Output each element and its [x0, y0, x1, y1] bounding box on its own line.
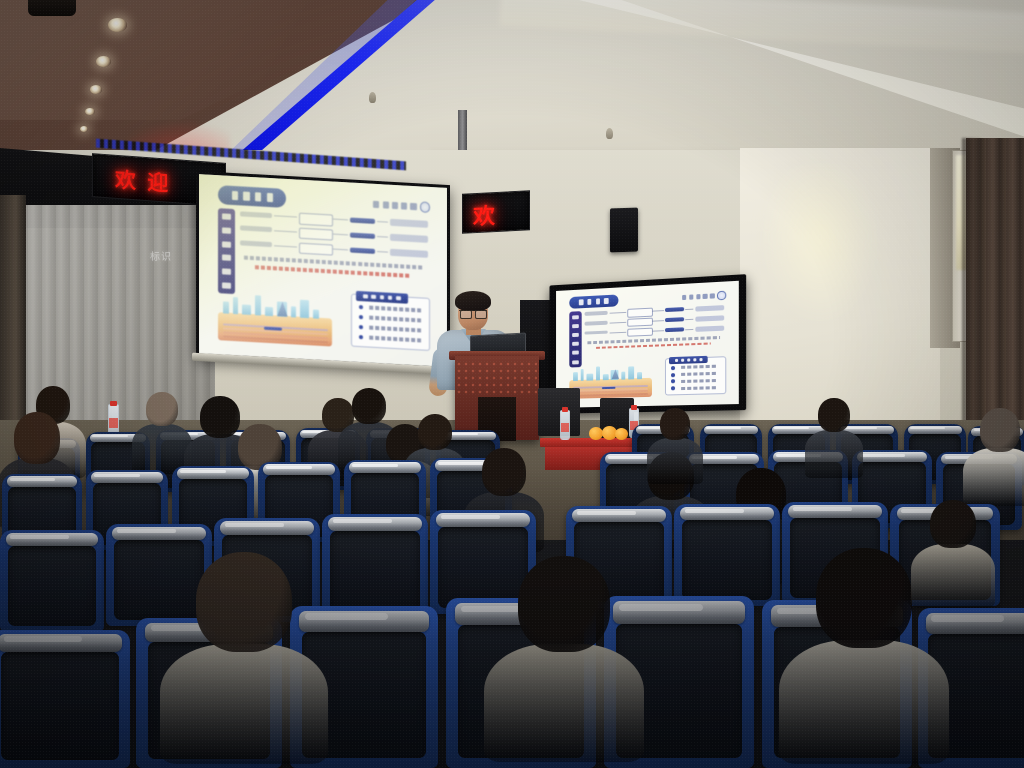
attendee-head	[930, 500, 976, 548]
attendee-shoulders	[963, 448, 1024, 506]
chair-bar-highlight	[910, 427, 945, 429]
attendee-head	[518, 556, 610, 652]
attendee-head	[146, 392, 178, 426]
attendee-shoulders	[160, 644, 328, 764]
attendee-head	[352, 388, 386, 424]
chair-bar-highlight	[441, 515, 500, 519]
attendee-17	[518, 556, 678, 762]
attendee-head	[14, 412, 60, 464]
chair-cushion	[1, 652, 119, 760]
chair-bar-highlight	[266, 466, 312, 469]
seated-audience	[0, 0, 1024, 768]
attendee-shoulders	[779, 640, 949, 764]
attendee-head	[818, 398, 850, 432]
chair-bar-highlight	[117, 529, 176, 533]
attendee-head	[816, 548, 912, 648]
chair-bar-highlight	[94, 474, 140, 477]
chair-bar-highlight	[225, 523, 284, 527]
attendee-16	[196, 552, 364, 764]
chair-cushion	[8, 546, 95, 626]
attendee-head	[660, 408, 690, 440]
audience-chair	[0, 530, 104, 632]
attendee-shoulders	[647, 438, 703, 484]
attendee-head	[980, 408, 1020, 452]
chair-cushion	[438, 527, 527, 608]
audience-chair	[0, 630, 130, 768]
chair-bar-highlight	[333, 519, 392, 523]
attendee-12	[660, 408, 716, 484]
chair-bar-highlight	[774, 427, 809, 429]
chair-bar-highlight	[180, 470, 226, 473]
attendee-shoulders	[484, 644, 644, 762]
chair-cushion	[682, 520, 771, 600]
attendee-head	[482, 448, 526, 496]
chair-bar-highlight	[438, 462, 484, 465]
attendee-shoulders	[911, 544, 995, 608]
attendee-19	[930, 500, 1014, 608]
chair-bar-highlight	[10, 478, 55, 481]
chair-bar-highlight	[352, 464, 398, 467]
attendee-shoulders	[805, 430, 863, 478]
attendee-14	[818, 398, 876, 478]
attendee-15	[980, 408, 1024, 506]
audience-chair	[674, 504, 780, 606]
chair-bar-highlight	[577, 511, 636, 515]
chair-cushion	[114, 540, 203, 620]
attendee-head	[418, 414, 452, 450]
attendee-head	[196, 552, 292, 652]
chair-bar-highlight	[10, 535, 68, 539]
chair-bar-highlight	[793, 507, 852, 511]
conference-hall-scene: 标识 欢 迎 欢	[0, 0, 1024, 768]
attendee-head	[200, 396, 240, 438]
chair-bar-highlight	[685, 509, 744, 513]
chair-bar-highlight	[4, 636, 82, 642]
